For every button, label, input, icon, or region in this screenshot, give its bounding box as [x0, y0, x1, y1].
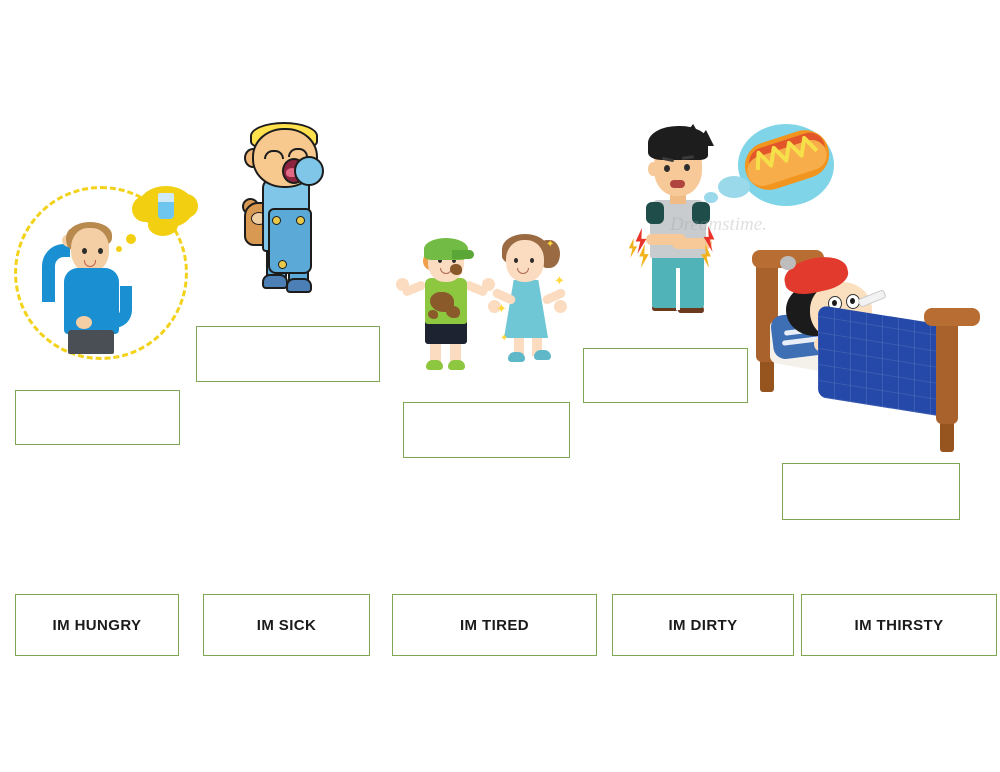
mud-stain-shirt-2 [446, 306, 460, 318]
illustration-dirty-kids: ✦ ✦ ✦ ✦ [394, 218, 579, 378]
eye-left [664, 165, 670, 172]
answer-tile-sick[interactable]: IM SICK [203, 594, 370, 656]
eye-right [684, 164, 690, 171]
thought-bubble-large [718, 176, 750, 198]
arm-covering-mouth [294, 156, 324, 186]
shoe-right [286, 278, 312, 293]
hand-lower [76, 316, 92, 329]
boy-shoe-right [448, 360, 465, 370]
mud-stain-shirt-3 [428, 310, 438, 319]
answer-tile-dirty[interactable]: IM DIRTY [612, 594, 794, 656]
trousers [68, 330, 114, 354]
worksheet-canvas: ✦ ✦ ✦ ✦ [0, 0, 1000, 772]
thought-bubble-small [704, 192, 718, 203]
sleeve-left [646, 202, 664, 224]
answer-tile-label: IM TIRED [460, 617, 529, 634]
illustration-thirsty-boy [14, 186, 194, 361]
drop-zone-tired[interactable] [196, 326, 380, 382]
pupil-left [832, 300, 837, 306]
closed-eye-left [264, 150, 284, 159]
drop-zone-sick[interactable] [782, 463, 960, 520]
sparkle-icon-left: ✦ [496, 302, 507, 315]
ice-pack-knot [780, 256, 796, 270]
girl-blue-dress [504, 280, 548, 338]
overall-button-right [296, 216, 305, 225]
boy-hand-left [396, 278, 409, 291]
pupil-right [850, 298, 855, 304]
bed-footboard-post [936, 314, 958, 424]
thought-dot-small [116, 246, 122, 252]
illustration-tired-boy [238, 118, 348, 308]
sad-mouth [670, 180, 685, 188]
water-fill [158, 202, 174, 219]
sparkle-icon-right: ✦ [554, 274, 565, 287]
girl-shoe-left [508, 352, 525, 362]
mud-stain-cheek [450, 264, 462, 275]
eye-left [82, 248, 87, 254]
answer-tile-label: IM SICK [257, 617, 316, 634]
boy-cap-brim [452, 250, 474, 259]
sparkle-icon-bottom: ✦ [500, 334, 508, 344]
answer-tile-label: IM THIRSTY [855, 617, 944, 634]
girl-eye-left [514, 258, 518, 263]
answer-tile-tired[interactable]: IM TIRED [392, 594, 597, 656]
thought-dot-large [126, 234, 136, 244]
boy-shoe-left [426, 360, 443, 370]
girl-shoe-right [534, 350, 551, 360]
girl-head [506, 240, 544, 282]
thought-bubble-lobe-right [174, 194, 198, 218]
illustration-sick-boy [748, 244, 998, 459]
leg-separation [676, 268, 680, 310]
shoe-left [262, 274, 288, 289]
answer-tile-label: IM HUNGRY [53, 617, 142, 634]
drop-zone-thirsty[interactable] [15, 390, 180, 445]
drop-zone-hungry[interactable] [583, 348, 748, 403]
sleeve-right [692, 202, 710, 224]
eye-right [98, 248, 103, 254]
drop-zone-dirty[interactable] [403, 402, 570, 458]
girl-eye-right [530, 258, 534, 263]
answer-tile-thirsty[interactable]: IM THIRSTY [801, 594, 997, 656]
girl-hand-right [554, 300, 567, 313]
answer-tile-hungry[interactable]: IM HUNGRY [15, 594, 179, 656]
sparkle-icon-top: ✦ [546, 240, 554, 250]
overall-button-bottom [278, 260, 287, 269]
answer-bank: IM HUNGRY IM SICK IM TIRED IM DIRTY IM T… [0, 594, 1000, 658]
overall-button-left [272, 216, 281, 225]
answer-tile-label: IM DIRTY [668, 617, 737, 634]
bed-footboard-rail [924, 308, 980, 326]
